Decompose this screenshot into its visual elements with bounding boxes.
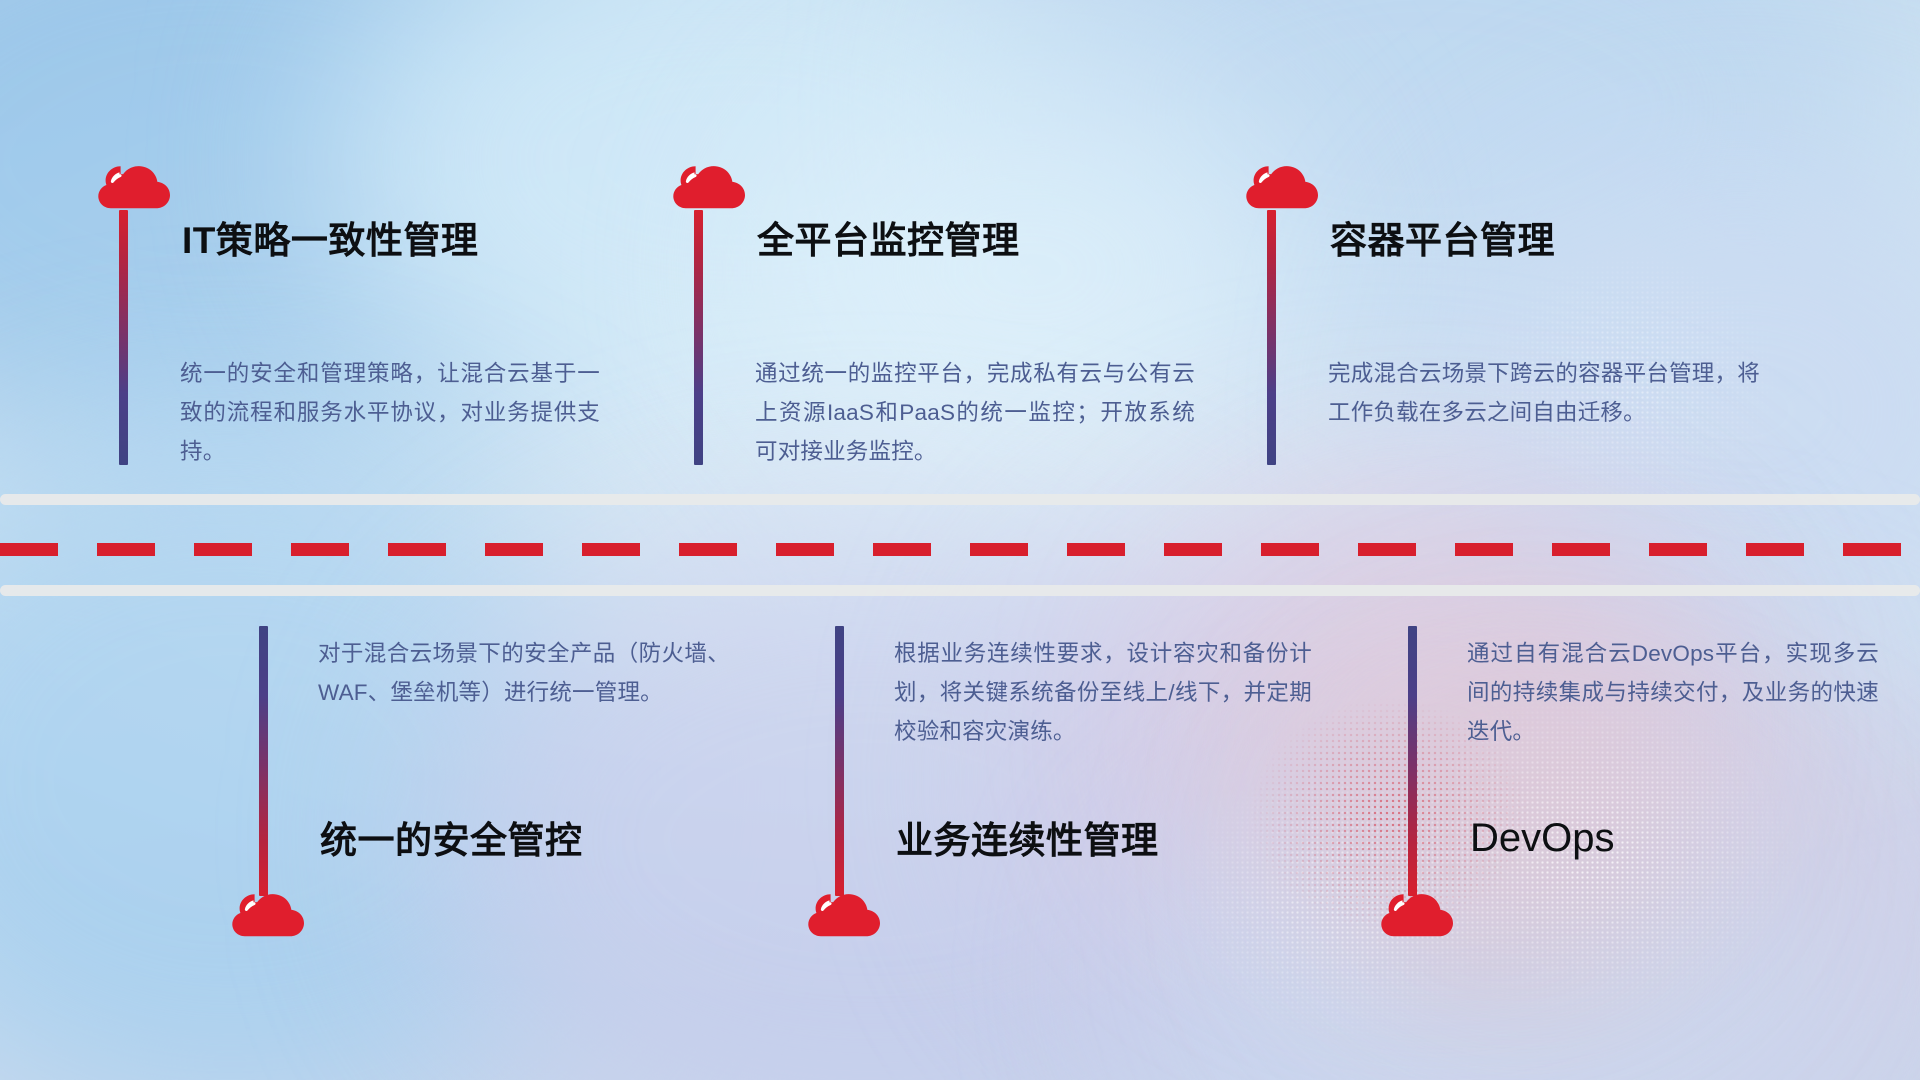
- item-description: 通过统一的监控平台，完成私有云与公有云上资源IaaS和PaaS的统一监控；开放系…: [755, 354, 1195, 471]
- connector-stem: [119, 210, 128, 465]
- cloud-icon: [97, 160, 171, 216]
- item-title: IT策略一致性管理: [182, 222, 478, 259]
- connector-stem: [259, 626, 268, 896]
- infographic-canvas: IT策略一致性管理 统一的安全和管理策略，让混合云基于一致的流程和服务水平协议，…: [0, 0, 1920, 1080]
- cloud-icon: [672, 160, 746, 216]
- item-description: 通过自有混合云DevOps平台，实现多云间的持续集成与持续交付，及业务的快速迭代…: [1467, 634, 1879, 751]
- connector-stem: [1267, 210, 1276, 465]
- item-title: 业务连续性管理: [896, 822, 1159, 859]
- cloud-icon: [807, 888, 881, 944]
- item-title: 容器平台管理: [1330, 222, 1555, 259]
- connector-stem: [1408, 626, 1417, 896]
- item-title: DevOps: [1470, 818, 1615, 858]
- connector-stem: [694, 210, 703, 465]
- item-description: 根据业务连续性要求，设计容灾和备份计划，将关键系统备份至线上/线下，并定期校验和…: [894, 634, 1312, 751]
- item-description: 对于混合云场景下的安全产品（防火墙、WAF、堡垒机等）进行统一管理。: [318, 634, 730, 712]
- cloud-icon: [1245, 160, 1319, 216]
- connector-stem: [835, 626, 844, 896]
- cloud-icon: [231, 888, 305, 944]
- item-title: 全平台监控管理: [757, 222, 1020, 259]
- item-title: 统一的安全管控: [320, 822, 583, 859]
- road-edge-top-line: [0, 494, 1920, 505]
- cloud-icon: [1380, 888, 1454, 944]
- item-description: 统一的安全和管理策略，让混合云基于一致的流程和服务水平协议，对业务提供支持。: [180, 354, 600, 471]
- item-description: 完成混合云场景下跨云的容器平台管理，将工作负载在多云之间自由迁移。: [1328, 354, 1760, 432]
- road-edge-bottom-line: [0, 585, 1920, 596]
- road-center-dashed-line: [0, 543, 1920, 556]
